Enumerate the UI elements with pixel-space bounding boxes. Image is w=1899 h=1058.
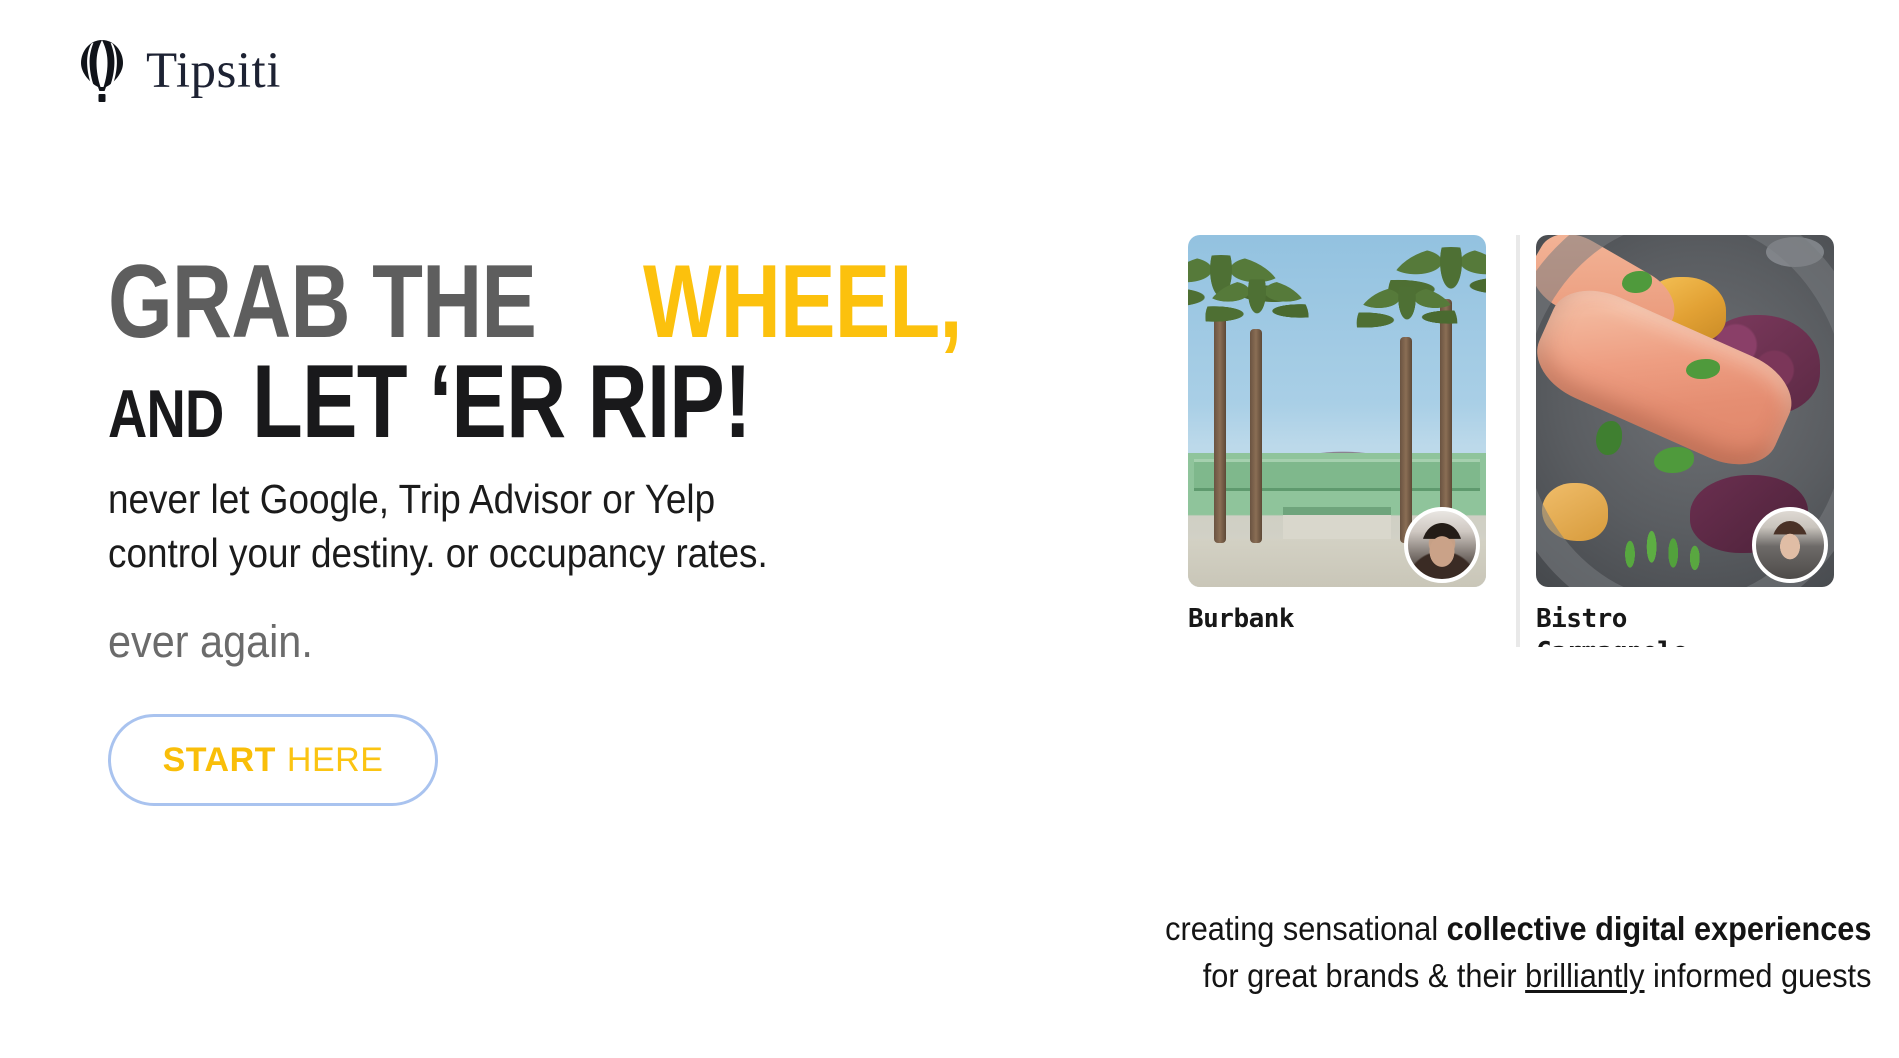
headline-let-er-rip: LET ‘ER RIP! [252, 355, 751, 451]
headline-line-2: ANDLET ‘ER RIP! [108, 355, 1008, 451]
card-divider [1516, 235, 1520, 647]
hero-subline: ever again. [108, 617, 936, 667]
spoon-shape [1766, 237, 1824, 267]
tagline-line-2-tail: informed guests [1644, 957, 1871, 994]
tagline-line-1-plain: creating sensational [1165, 910, 1447, 947]
burbank-photo [1188, 235, 1486, 587]
bistro-photo [1536, 235, 1834, 587]
place-card-title: Bistro Carmagnole [1536, 603, 1848, 647]
building-marquee-shape [1194, 459, 1480, 491]
palm-trunk-right-2 [1400, 337, 1412, 543]
headline-line-1: GRAB THEWHEEL, [108, 255, 1008, 351]
start-here-button[interactable]: STARTHERE [108, 714, 438, 806]
tagline-line-2-underline: brilliantly [1525, 957, 1644, 994]
avatar[interactable] [1752, 507, 1828, 583]
start-here-button-strong-label: START [163, 741, 276, 780]
hot-air-balloon-icon [78, 38, 126, 104]
herb-leaf-4 [1596, 421, 1622, 455]
site-header: Tipsiti [78, 38, 281, 104]
palm-fronds-right-2 [1357, 286, 1458, 360]
hero-body-text: never let Google, Trip Advisor or Yelp c… [108, 472, 918, 580]
footer-tagline: creating sensational collective digital … [1165, 906, 1871, 1000]
place-card-burbank[interactable]: Burbank Home to Universal Studios Hollyw… [1188, 235, 1500, 647]
headline-wheel: WHEEL, [643, 255, 962, 351]
place-card-description: Home to Universal Studios Hollywood and … [1188, 646, 1500, 648]
hero-headline: GRAB THEWHEEL, ANDLET ‘ER RIP! [108, 255, 1008, 450]
palm-fronds-left-2 [1205, 279, 1308, 354]
start-here-button-rest-label: HERE [287, 741, 383, 780]
roasted-potato-shape-2 [1542, 483, 1608, 541]
headline-and: AND [108, 383, 223, 446]
tagline-line-1: creating sensational collective digital … [1165, 906, 1871, 953]
tagline-line-2: for great brands & their brilliantly inf… [1165, 953, 1871, 1000]
hero-section: GRAB THEWHEEL, ANDLET ‘ER RIP! never let… [108, 255, 1008, 806]
place-card-bistro-carmagnole[interactable]: Bistro Carmagnole The latest hot spot fo… [1536, 235, 1848, 647]
headline-grab-the: GRAB THE [108, 255, 536, 351]
palm-trunk-left-2 [1250, 329, 1262, 543]
place-cards-strip[interactable]: Burbank Home to Universal Studios Hollyw… [1188, 235, 1868, 647]
brand-name: Tipsiti [146, 46, 281, 97]
dill-sprig-shape [1606, 517, 1726, 579]
herb-leaf-3 [1654, 447, 1694, 473]
tagline-line-2-plain: for great brands & their [1202, 957, 1524, 994]
avatar[interactable] [1404, 507, 1480, 583]
tagline-line-1-bold: collective digital experiences [1446, 910, 1871, 947]
place-card-title: Burbank [1188, 603, 1500, 636]
